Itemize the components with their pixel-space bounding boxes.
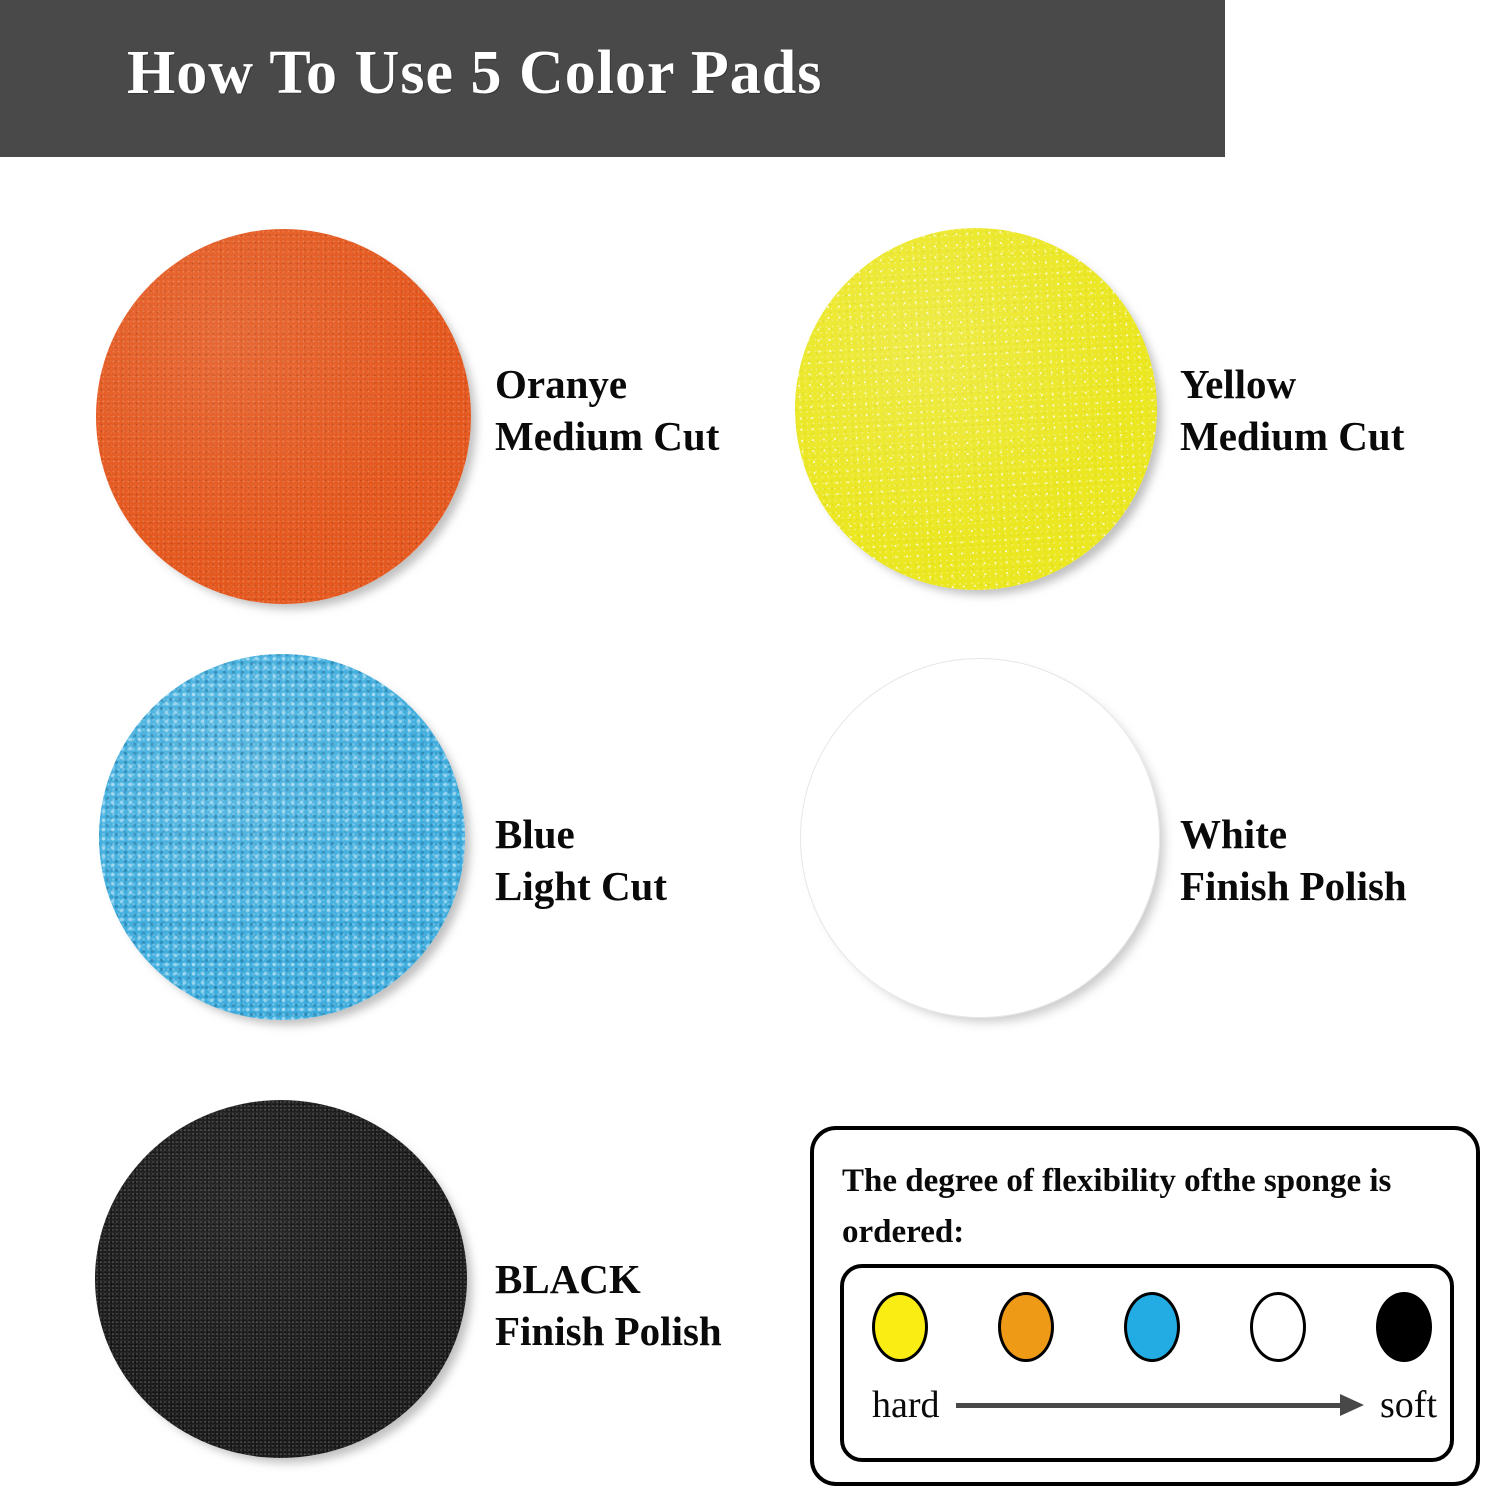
- flexibility-dot-blue: [1124, 1292, 1180, 1362]
- pad-swatch-white: [800, 658, 1160, 1018]
- arrow-line: [956, 1403, 1340, 1408]
- pad-swatch-yellow: [786, 219, 1166, 599]
- pad-name-yellow: Yellow: [1180, 358, 1404, 410]
- infographic-canvas: How To Use 5 Color Pads Oranye Medium Cu…: [0, 0, 1500, 1500]
- pad-grade-blue: Light Cut: [495, 860, 667, 912]
- flexibility-dot-black: [1376, 1292, 1432, 1362]
- pad-grade-orange: Medium Cut: [495, 410, 719, 462]
- flexibility-scale-row: hard soft: [872, 1372, 1437, 1438]
- flexibility-legend-box: The degree of flexibility ofthe sponge i…: [810, 1126, 1480, 1486]
- flexibility-dot-orange: [998, 1292, 1054, 1362]
- hard-to-soft-arrow-icon: [956, 1395, 1364, 1415]
- pad-label-white: White Finish Polish: [1180, 808, 1407, 912]
- pad-label-yellow: Yellow Medium Cut: [1180, 358, 1404, 462]
- scale-label-hard: hard: [872, 1383, 940, 1427]
- pad-label-orange: Oranye Medium Cut: [495, 358, 719, 462]
- flexibility-scale-panel: hard soft: [840, 1264, 1454, 1462]
- pad-label-black: BLACK Finish Polish: [495, 1253, 722, 1357]
- pad-swatch-blue: [99, 654, 465, 1020]
- arrow-head: [1340, 1394, 1364, 1416]
- flexibility-caption: The degree of flexibility ofthe sponge i…: [842, 1156, 1454, 1258]
- pad-swatch-orange: [96, 229, 471, 604]
- flexibility-dot-yellow: [872, 1292, 928, 1362]
- pad-name-blue: Blue: [495, 808, 667, 860]
- pad-swatch-black: [95, 1100, 467, 1458]
- pad-grade-white: Finish Polish: [1180, 860, 1407, 912]
- pad-name-black: BLACK: [495, 1253, 722, 1305]
- pad-label-blue: Blue Light Cut: [495, 808, 667, 912]
- page-title: How To Use 5 Color Pads: [127, 38, 822, 109]
- pad-name-white: White: [1180, 808, 1407, 860]
- scale-label-soft: soft: [1380, 1383, 1437, 1427]
- flexibility-dot-row: [872, 1288, 1432, 1366]
- flexibility-dot-white: [1250, 1292, 1306, 1362]
- pad-name-orange: Oranye: [495, 358, 719, 410]
- pad-grade-yellow: Medium Cut: [1180, 410, 1404, 462]
- pad-grade-black: Finish Polish: [495, 1305, 722, 1357]
